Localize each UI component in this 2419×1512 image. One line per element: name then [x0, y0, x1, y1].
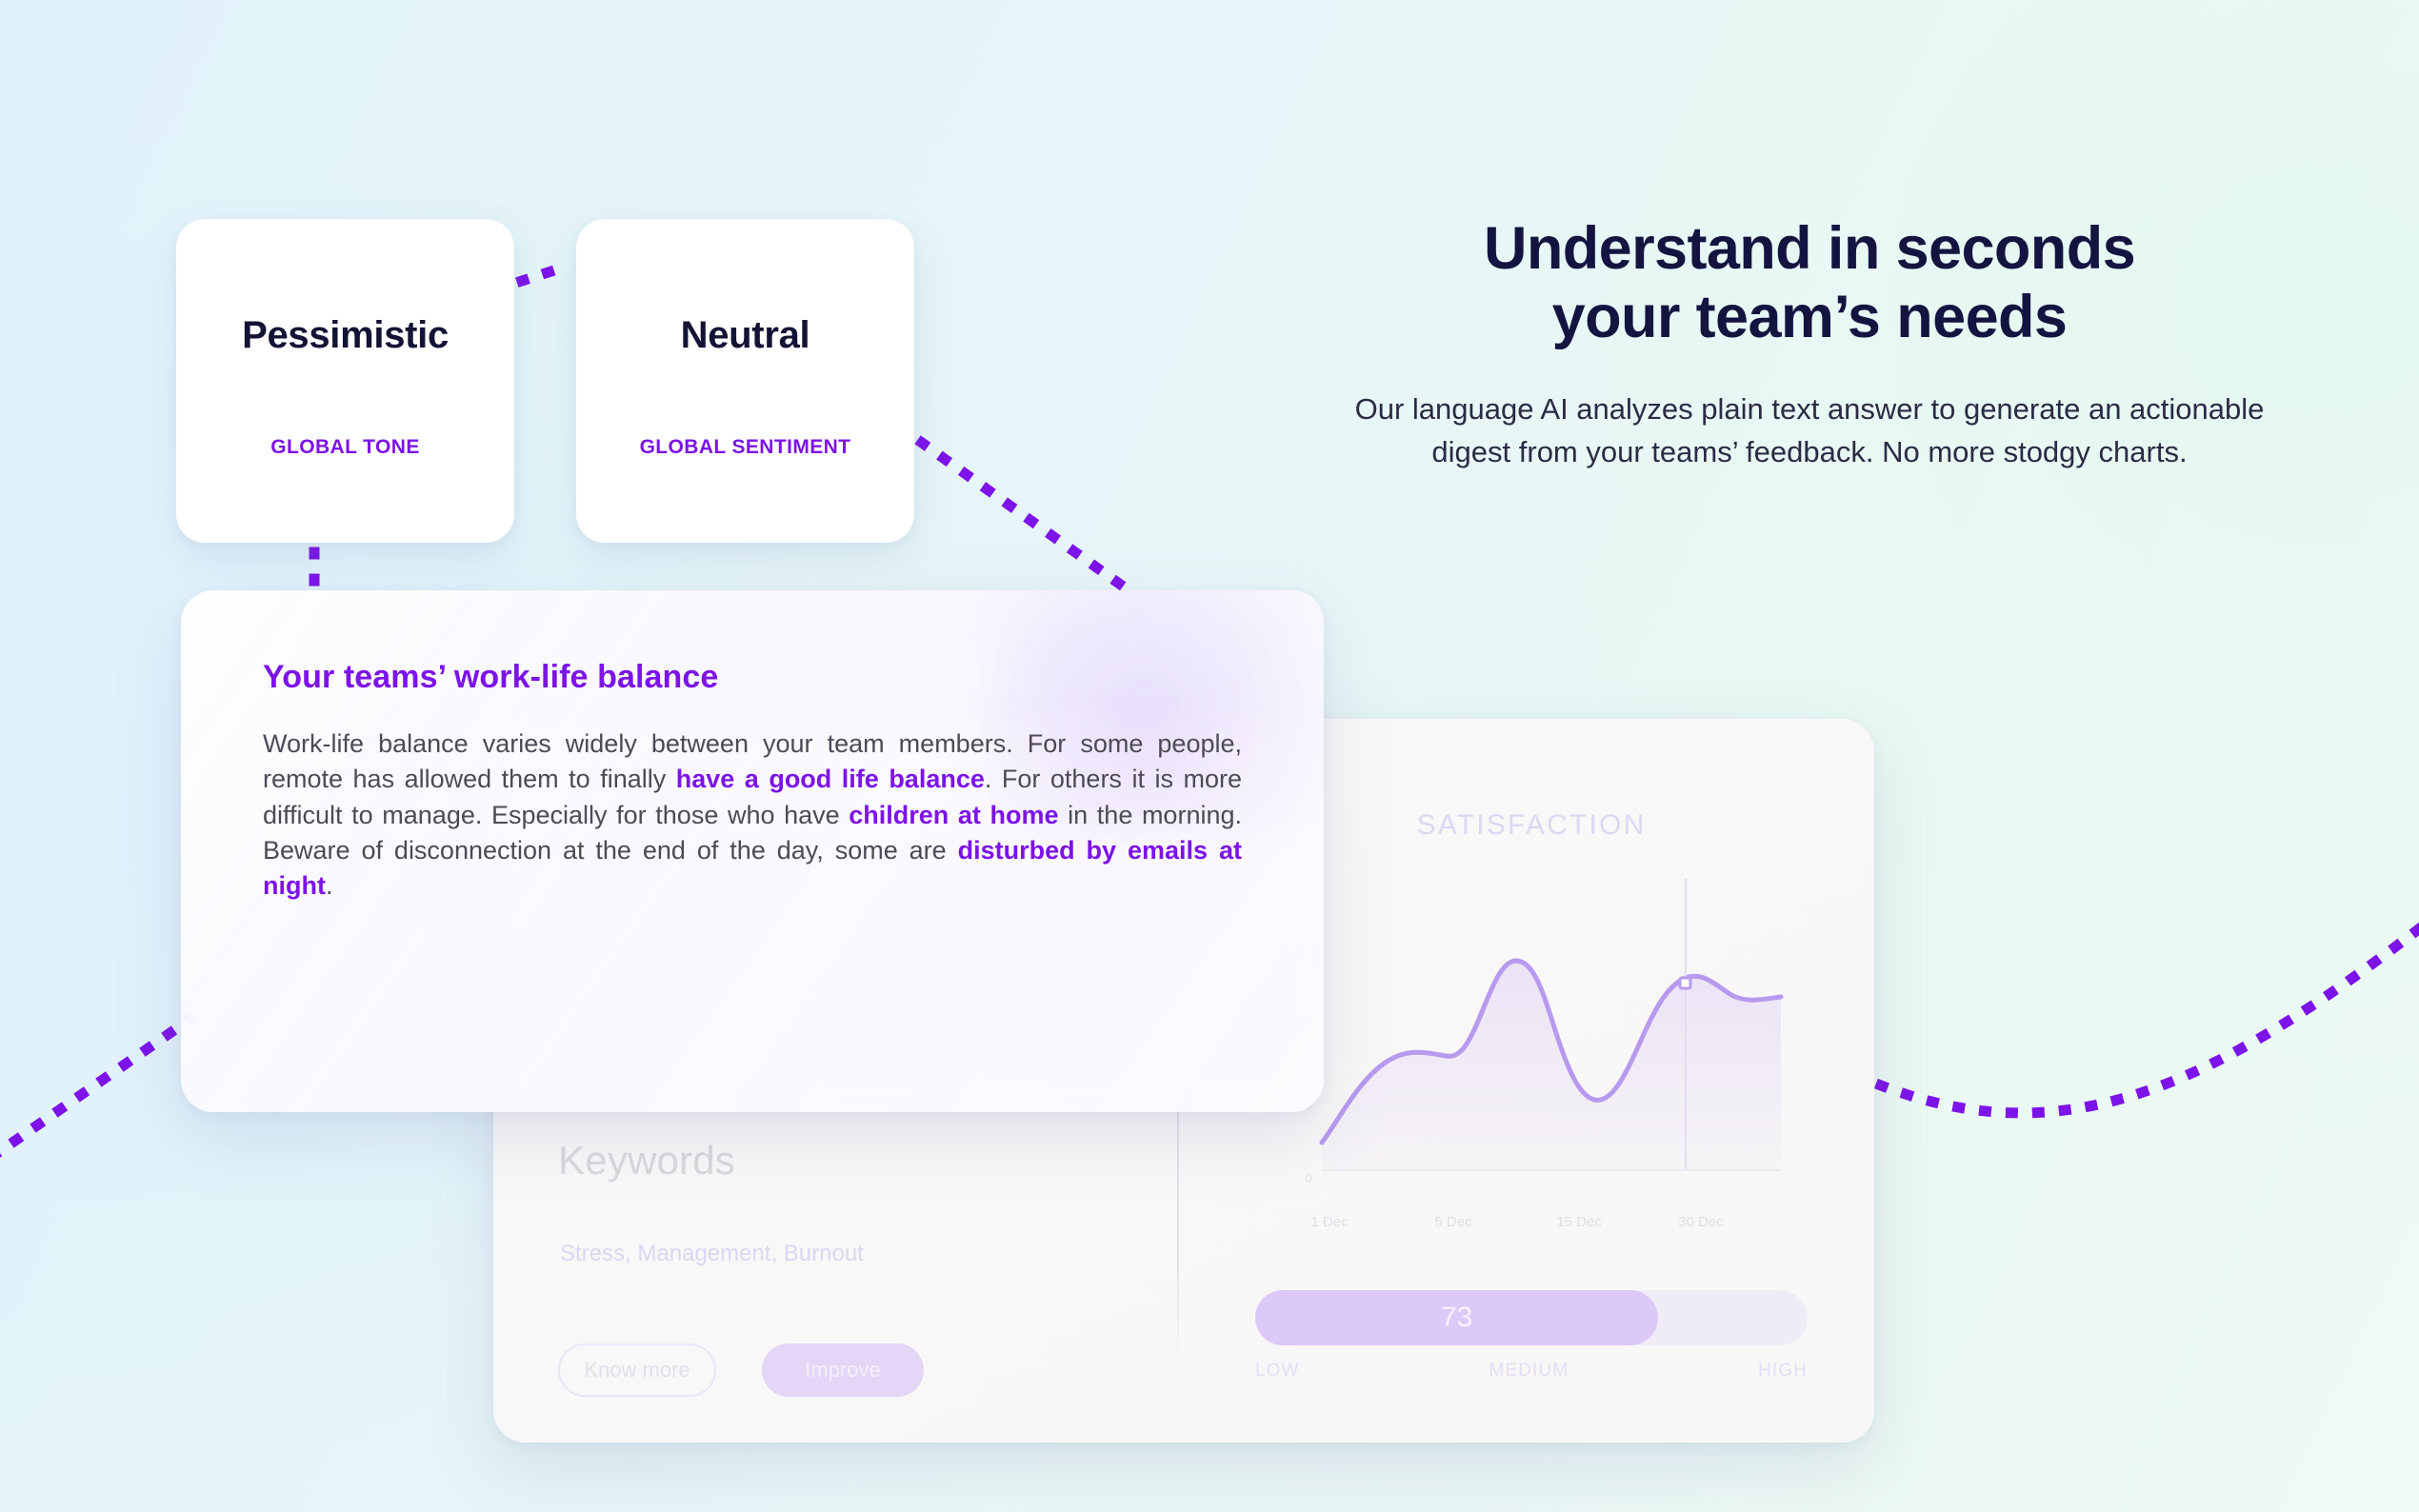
metric-value: Pessimistic	[242, 314, 449, 357]
keywords-title: Keywords	[558, 1138, 735, 1184]
x-tick-label: 5 Dec	[1434, 1214, 1471, 1230]
x-tick-label: 30 Dec	[1678, 1214, 1724, 1230]
dotted-path-right-curve	[1881, 914, 2419, 1113]
score-legend-high: HIGH	[1758, 1361, 1808, 1382]
y-tick-label: 0	[1274, 1170, 1312, 1185]
x-tick-label: 15 Dec	[1556, 1214, 1602, 1230]
insight-highlight-2: children at home	[849, 801, 1058, 829]
dashboard-actions: Know more Improve	[558, 1343, 924, 1397]
score-block: 73 LOW MEDIUM HIGH	[1255, 1290, 1808, 1382]
score-fill: 73	[1255, 1290, 1658, 1345]
metric-label: GLOBAL TONE	[270, 436, 419, 459]
dotted-path-left-curve	[0, 1019, 190, 1171]
metric-card-global-sentiment[interactable]: Neutral GLOBAL SENTIMENT	[576, 219, 914, 543]
hero-headline: Understand in seconds your team’s needs	[1333, 214, 2286, 352]
page-stage: Pessimistic GLOBAL TONE Neutral GLOBAL S…	[0, 0, 2419, 1512]
chart-svg	[1312, 879, 1789, 1185]
hero-subcopy: Our language AI analyzes plain text answ…	[1333, 388, 2286, 474]
metric-value: Neutral	[681, 314, 810, 357]
chart-area-fill	[1322, 961, 1781, 1170]
hero-headline-line1: Understand in seconds	[1484, 215, 2135, 282]
insight-body: Work-life balance varies widely between …	[263, 726, 1242, 904]
know-more-button[interactable]: Know more	[558, 1343, 716, 1397]
score-legend-medium: MEDIUM	[1489, 1361, 1569, 1382]
insight-title: Your teams’ work-life balance	[263, 659, 1242, 696]
insight-content: Your teams’ work-life balance Work-life …	[181, 590, 1324, 904]
hero-copy: Understand in seconds your team’s needs …	[1333, 214, 2286, 474]
dotted-path-sentiment-to-insight	[922, 443, 1129, 590]
chart-highlight-point	[1680, 978, 1690, 988]
score-track[interactable]: 73	[1255, 1290, 1808, 1345]
insight-text-4: .	[326, 871, 333, 900]
keywords-list: Stress, Management, Burnout	[560, 1241, 864, 1267]
insight-highlight-1: have a good life balance	[676, 765, 985, 793]
satisfaction-chart: 100 75 50 25 0	[1255, 879, 1808, 1241]
dotted-path-between-cards	[522, 265, 571, 281]
score-legend: LOW MEDIUM HIGH	[1255, 1361, 1808, 1382]
insight-card: Your teams’ work-life balance Work-life …	[181, 590, 1324, 1112]
improve-button[interactable]: Improve	[762, 1343, 924, 1397]
hero-headline-line2: your team’s needs	[1552, 284, 2068, 350]
score-value: 73	[1441, 1302, 1472, 1334]
x-tick-label: 1 Dec	[1310, 1214, 1348, 1230]
score-legend-low: LOW	[1255, 1361, 1300, 1382]
metric-label: GLOBAL SENTIMENT	[640, 436, 851, 459]
metric-card-global-tone[interactable]: Pessimistic GLOBAL TONE	[176, 219, 514, 543]
